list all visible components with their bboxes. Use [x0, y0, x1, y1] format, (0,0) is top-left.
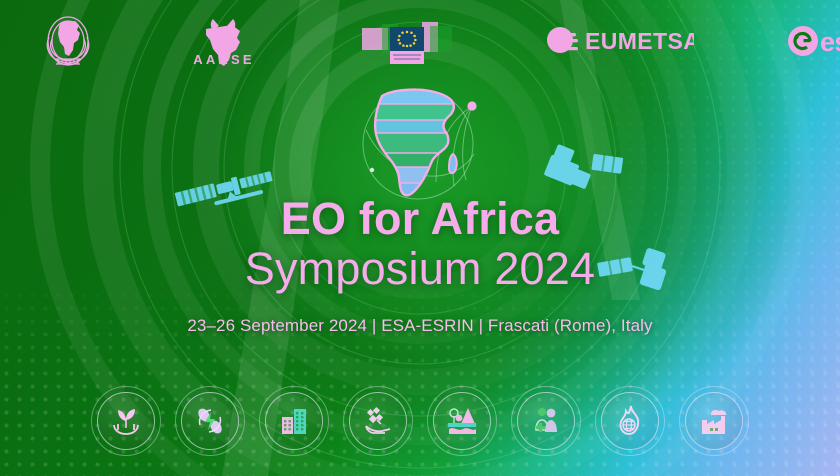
urban-icon[interactable]	[263, 390, 325, 452]
green-energy-icon[interactable]	[179, 390, 241, 452]
health-icon[interactable]	[515, 390, 577, 452]
theme-icon-row	[0, 390, 840, 452]
industry-icon[interactable]	[683, 390, 745, 452]
satellite-hand-icon[interactable]	[347, 390, 409, 452]
event-subtitle: 23–26 September 2024 | ESA-ESRIN | Frasc…	[0, 316, 840, 336]
aarse-logo-text: AARSE	[193, 52, 255, 67]
forest-water-icon[interactable]	[431, 390, 493, 452]
eumetsat-logo: EUMETSAT	[544, 21, 694, 61]
african-union-logo	[22, 13, 114, 69]
event-title-line1: EO for Africa	[0, 196, 840, 242]
european-union-logo	[360, 12, 456, 70]
esa-logo: esa	[786, 21, 840, 61]
partner-logo-row: AARSE	[0, 12, 840, 70]
aarse-logo: AARSE	[170, 13, 278, 69]
esa-logo-text: esa	[820, 27, 840, 57]
event-title-line2: Symposium 2024	[0, 244, 840, 294]
climate-fire-icon[interactable]	[599, 390, 661, 452]
title-block: EO for Africa Symposium 2024 23–26 Septe…	[0, 196, 840, 336]
agriculture-icon[interactable]	[95, 390, 157, 452]
event-banner: AARSE	[0, 0, 840, 476]
eumetsat-logo-text: EUMETSAT	[585, 28, 694, 54]
globe-node-dot	[467, 101, 476, 110]
